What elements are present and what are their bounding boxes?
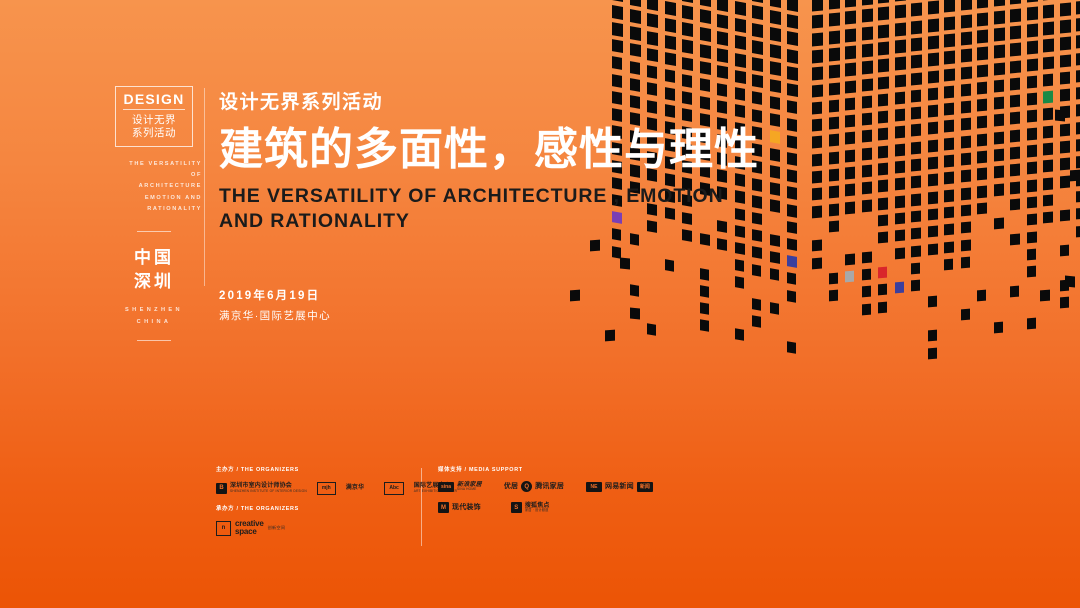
facade-window [1010, 8, 1021, 22]
facade-window [752, 57, 763, 71]
facade-window [961, 153, 971, 166]
facade-window [700, 9, 711, 24]
facade-window [862, 251, 872, 263]
city-cn-line-2: 深圳 [104, 270, 204, 294]
facade-window [862, 78, 873, 91]
badge-en-line-3: ARCHITECTURE [104, 181, 202, 192]
facade-window [1027, 0, 1038, 3]
facade-window [787, 0, 798, 12]
facade-window [1043, 212, 1053, 224]
facade-stray-window [590, 240, 600, 252]
facade-window [770, 79, 781, 93]
facade-window [1043, 160, 1053, 173]
facade-window [961, 101, 971, 114]
brand-badge-column: DESIGN 设计无界 系列活动 THE VERSATILITY OF ARCH… [104, 86, 204, 341]
facade-window [1060, 71, 1070, 84]
facade-window [977, 99, 987, 112]
facade-window [878, 41, 889, 55]
facade-window [911, 124, 921, 137]
facade-window [878, 7, 889, 21]
facade-window [787, 31, 798, 46]
facade-window [977, 81, 987, 94]
facade-window [1043, 195, 1053, 207]
facade-window [700, 268, 709, 281]
facade-window [752, 315, 761, 327]
facade-window [612, 56, 622, 70]
facade-window [944, 207, 954, 219]
city-cn-line-1: 中国 [104, 246, 204, 270]
facade-window [682, 5, 693, 20]
facade-window [961, 135, 971, 148]
badge-divider-top [137, 231, 171, 232]
facade-window [752, 40, 763, 55]
facade-window [682, 40, 693, 54]
facade-window [752, 264, 761, 277]
netease-name: 网易新闻 [605, 483, 634, 490]
facade-window [911, 193, 921, 205]
facade-window [928, 70, 939, 83]
facade-window [1027, 75, 1037, 88]
facade-window [961, 0, 972, 11]
facade-window [829, 117, 839, 130]
facade-window [700, 61, 711, 75]
sponsor-footer: 主办方 / THE ORGANIZERS B 深圳市室内设计师协会 SHENZH… [216, 466, 916, 546]
facade-window [1076, 87, 1080, 100]
facade-window [812, 49, 823, 63]
facade-window [630, 61, 640, 75]
facade-window [928, 226, 938, 238]
facade-window [612, 22, 623, 36]
facade-window [682, 22, 693, 37]
facade-window [717, 31, 728, 46]
facade-window [812, 240, 822, 252]
facade-window [1060, 175, 1070, 187]
facade-window [944, 259, 953, 271]
city-en-line-2: CHINA [104, 317, 204, 329]
facade-window [895, 5, 906, 19]
facade-window [612, 39, 623, 53]
facade-window [630, 0, 641, 7]
facade-window [1076, 0, 1080, 14]
sohu-mark-icon: S [511, 502, 522, 513]
facade-window [961, 49, 972, 62]
facade-window [647, 65, 657, 79]
facade-window [1010, 199, 1020, 211]
facade-window [911, 141, 921, 154]
facade-window [717, 0, 728, 11]
facade-window [878, 145, 888, 158]
facade-window [862, 61, 873, 74]
facade-window [895, 195, 905, 207]
facade-window [1043, 143, 1053, 156]
facade-window [700, 27, 711, 42]
facade-window [928, 105, 938, 118]
organizer-logo-mjh: mjh [317, 482, 336, 495]
facade-window [1027, 162, 1037, 175]
facade-window [665, 259, 674, 272]
facade-window [977, 64, 988, 77]
facade-window [829, 186, 839, 199]
facade-window [1010, 181, 1020, 193]
facade-window [717, 238, 727, 251]
facade-window [961, 31, 972, 45]
mjh-name: 满京华 [346, 485, 365, 491]
facade-window [977, 133, 987, 146]
facade-window [977, 116, 987, 129]
facade-window [630, 9, 641, 24]
facade-window [977, 29, 988, 43]
facade-window [911, 55, 922, 68]
event-date: 2019年6月19日 [219, 287, 331, 305]
tencent-name: 腾讯家居 [535, 483, 564, 490]
modern-decoration-name: 现代装饰 [452, 504, 481, 511]
page-title: 建筑的多面性，感性与理性 [219, 124, 819, 176]
facade-window [735, 277, 744, 290]
facade-window [961, 170, 971, 183]
vertical-divider [204, 88, 205, 286]
facade-window [700, 0, 711, 7]
facade-window [944, 189, 954, 201]
facade-window [961, 187, 971, 199]
facade-window [770, 303, 779, 315]
facade-window [735, 18, 746, 33]
facade-window [911, 20, 922, 34]
facade-window [1060, 2, 1071, 16]
netease-badge-icon: 新闻 [637, 482, 653, 492]
facade-window [977, 47, 988, 60]
facade-window [878, 0, 889, 3]
facade-window [845, 253, 855, 265]
facade-window [994, 0, 1005, 7]
facade-window [1010, 233, 1020, 245]
facade-window [944, 241, 954, 253]
facade-window [1010, 43, 1021, 56]
facade-window [1076, 121, 1080, 134]
facade-window [928, 295, 937, 307]
facade-window [1076, 156, 1080, 169]
facade-window [829, 290, 838, 302]
facade-window [1060, 54, 1071, 67]
facade-window [895, 178, 905, 191]
facade-window [911, 280, 920, 292]
facade-window [944, 33, 955, 47]
facade-window [1027, 110, 1037, 123]
facade-window [1010, 25, 1021, 39]
facade-window [829, 134, 839, 147]
facade-window [717, 14, 728, 29]
facade-window [944, 51, 955, 64]
facade-stray-window [620, 257, 630, 269]
logo-design-word: DESIGN [123, 92, 185, 110]
co-organizer-logo-row: n creative space 创新空间 [216, 520, 421, 536]
facade-window [911, 245, 921, 257]
facade-stray-window [605, 330, 615, 342]
facade-window [682, 74, 692, 88]
facade-window [1010, 164, 1020, 177]
facade-window [752, 0, 763, 3]
facade-window [961, 239, 971, 251]
city-chinese: 中国 深圳 [104, 246, 204, 294]
facade-window [961, 205, 971, 217]
facade-window [878, 232, 888, 244]
creative-space-mark-icon: n [216, 521, 231, 536]
facade-window [1027, 231, 1037, 243]
facade-window [1060, 89, 1070, 102]
facade-window [1043, 39, 1054, 52]
facade-window [862, 303, 871, 315]
facade-window [895, 143, 905, 156]
facade-window [1060, 123, 1070, 136]
facade-window [994, 27, 1005, 41]
facade-window [1027, 145, 1037, 158]
facade-window [911, 176, 921, 189]
facade-window [911, 3, 922, 17]
facade-window [1027, 41, 1038, 54]
facade-window [878, 301, 887, 313]
facade-window [928, 243, 938, 255]
facade-stray-window [1040, 290, 1050, 302]
facade-window [787, 66, 798, 80]
facade-window [994, 79, 1004, 92]
facade-window [812, 15, 823, 29]
facade-window [895, 126, 905, 139]
facade-window [1027, 23, 1038, 37]
facade-stray-window [1055, 109, 1065, 121]
siid-sub: SHENZHEN INSTITUTE OF INTERIOR DESIGN [230, 490, 307, 494]
series-logo: DESIGN 设计无界 系列活动 [115, 86, 193, 147]
facade-window [862, 0, 873, 5]
facade-window [829, 99, 839, 112]
creative-space-sub: 创新空间 [268, 525, 286, 531]
facade-window [928, 174, 938, 187]
sina-text-block: 新浪家居 SINA HOME [457, 482, 482, 492]
event-meta: 2019年6月19日 满京华·国际艺展中心 [219, 287, 331, 326]
facade-window [1076, 52, 1080, 65]
facade-window [911, 107, 921, 120]
facade-window [1076, 104, 1080, 117]
facade-window [630, 26, 641, 40]
facade-window [944, 16, 955, 30]
facade-window [1076, 17, 1080, 31]
facade-window [717, 48, 728, 62]
facade-window [845, 115, 855, 128]
facade-window [928, 191, 938, 203]
facade-window [770, 10, 781, 25]
facade-window [1027, 179, 1037, 191]
facade-window [787, 49, 798, 64]
facade-window [1043, 108, 1053, 121]
facade-window [1060, 19, 1071, 33]
facade-window [647, 31, 658, 45]
facade-window [928, 122, 938, 135]
media-logo-modern-decoration: M 现代装饰 [438, 502, 481, 513]
facade-window [928, 330, 937, 341]
facade-window [961, 83, 971, 96]
facade-window [944, 224, 954, 236]
facade-window [1060, 141, 1070, 154]
facade-window [829, 65, 840, 78]
facade-window [994, 149, 1004, 162]
poster-canvas: DESIGN 设计无界 系列活动 THE VERSATILITY OF ARCH… [0, 0, 1080, 608]
facade-window [700, 285, 709, 297]
facade-window [895, 91, 905, 104]
facade-window [700, 44, 711, 58]
facade-window [752, 74, 763, 88]
facade-window [1060, 296, 1069, 308]
facade-window [630, 44, 641, 58]
facade-window [787, 14, 798, 29]
facade-window [1060, 245, 1069, 257]
event-series-kicker: 设计无界系列活动 [219, 92, 819, 115]
facade-window [928, 139, 938, 152]
facade-window [862, 147, 872, 160]
facade-window [1043, 4, 1054, 18]
facade-window [1027, 318, 1036, 329]
facade-window [665, 70, 675, 84]
sohu-sub: 家居 · 设计频道 [525, 509, 550, 513]
siid-text-block: 深圳市室内设计师协会 SHENZHEN INSTITUTE OF INTERIO… [230, 483, 307, 493]
media-support-column: 媒体支持 / MEDIA SUPPORT sina 新浪家居 SINA HOME… [438, 466, 916, 523]
facade-window [1027, 266, 1036, 278]
facade-stray-window [1065, 275, 1075, 287]
facade-window [1060, 158, 1070, 171]
facade-window [1010, 60, 1021, 73]
facade-window [665, 52, 676, 66]
facade-window [862, 182, 872, 195]
facade-window [911, 263, 920, 275]
facade-accent-window [895, 282, 904, 294]
facade-window [944, 0, 955, 13]
facade-window [845, 97, 855, 110]
facade-window [994, 45, 1005, 58]
facade-window [1043, 0, 1054, 1]
media-logo-sohu-focus: S 搜狐焦点 家居 · 设计频道 [511, 502, 550, 513]
footer-column-divider [421, 468, 422, 546]
facade-window [862, 9, 873, 23]
facade-window [1010, 0, 1021, 5]
media-logo-row-2: M 现代装饰 S 搜狐焦点 家居 · 设计频道 [438, 502, 916, 513]
facade-window [787, 290, 796, 303]
sina-mark-icon: sina [438, 482, 454, 492]
facade-window [845, 45, 856, 59]
facade-window [1076, 69, 1080, 82]
facade-window [770, 268, 779, 281]
facade-window [944, 120, 954, 133]
facade-window [944, 85, 954, 98]
organizers-label: 主办方 / THE ORGANIZERS [216, 466, 421, 474]
facade-window [845, 0, 856, 7]
badge-en-line-2: OF [104, 170, 202, 181]
facade-window [612, 0, 623, 2]
facade-window [829, 203, 839, 215]
facade-window [977, 203, 987, 215]
facade-window [647, 13, 658, 28]
facade-window [895, 247, 905, 259]
media-logo-netease-news: NE 网易新闻 新闻 [586, 482, 653, 492]
facade-window [735, 53, 746, 67]
facade-stray-window [570, 290, 580, 302]
facade-window [735, 242, 745, 255]
facade-window [752, 5, 763, 20]
siid-mark-icon: B [216, 483, 227, 494]
facade-window [895, 57, 906, 70]
youju-name: 优居 [504, 483, 518, 490]
facade-window [944, 172, 954, 185]
facade-window [977, 185, 987, 197]
facade-window [829, 47, 840, 61]
facade-window [829, 169, 839, 182]
facade-window [829, 221, 839, 233]
facade-window [878, 59, 889, 72]
facade-window [1010, 95, 1020, 108]
facade-window [895, 230, 905, 242]
facade-window [845, 28, 856, 42]
facade-window [1043, 56, 1054, 69]
facade-window [994, 322, 1003, 333]
facade-window [787, 341, 796, 353]
facade-window [682, 0, 693, 3]
facade-window [787, 238, 797, 251]
facade-window [735, 328, 744, 340]
facade-window [1027, 127, 1037, 140]
media-logo-row-1: sina 新浪家居 SINA HOME 优居 Q 腾讯家居 NE 网易新闻 新闻 [438, 481, 916, 492]
facade-window [977, 151, 987, 164]
headline-block: 设计无界系列活动 建筑的多面性，感性与理性 THE VERSATILITY OF… [219, 92, 819, 235]
facade-window [682, 57, 693, 71]
facade-window [700, 302, 709, 314]
logo-cn-line-2: 系列活动 [119, 127, 189, 140]
facade-window [928, 157, 938, 170]
facade-window [845, 132, 855, 145]
facade-window [862, 113, 872, 126]
facade-window [770, 251, 780, 264]
badge-en-line-1: THE VERSATILITY [104, 159, 202, 170]
facade-window [878, 163, 888, 176]
facade-window [911, 89, 921, 102]
facade-window [977, 12, 988, 26]
facade-window [911, 228, 921, 240]
facade-window [878, 111, 888, 124]
facade-window [735, 259, 744, 272]
facade-window [770, 62, 781, 76]
facade-window [1010, 112, 1020, 125]
facade-window [928, 347, 937, 358]
facade-stray-window [630, 307, 640, 319]
facade-window [878, 215, 888, 227]
facade-window [895, 0, 906, 1]
facade-window [845, 149, 855, 162]
facade-window [770, 44, 781, 59]
facade-window [1043, 177, 1053, 189]
facade-window [1060, 210, 1070, 222]
organizer-logo-aec-icon: Abc [384, 482, 403, 495]
facade-window [829, 82, 840, 95]
facade-window [665, 1, 676, 16]
facade-window [700, 233, 710, 246]
creative-space-name2: space [235, 528, 264, 536]
facade-window [944, 68, 955, 81]
facade-window [812, 257, 822, 269]
facade-window [895, 213, 905, 225]
facade-window [845, 167, 855, 180]
facade-window [994, 10, 1005, 24]
facade-window [977, 0, 988, 9]
facade-accent-window [787, 255, 797, 268]
facade-window [994, 218, 1004, 230]
facade-window [770, 0, 781, 8]
facade-window [928, 35, 939, 49]
facade-window [665, 18, 676, 33]
